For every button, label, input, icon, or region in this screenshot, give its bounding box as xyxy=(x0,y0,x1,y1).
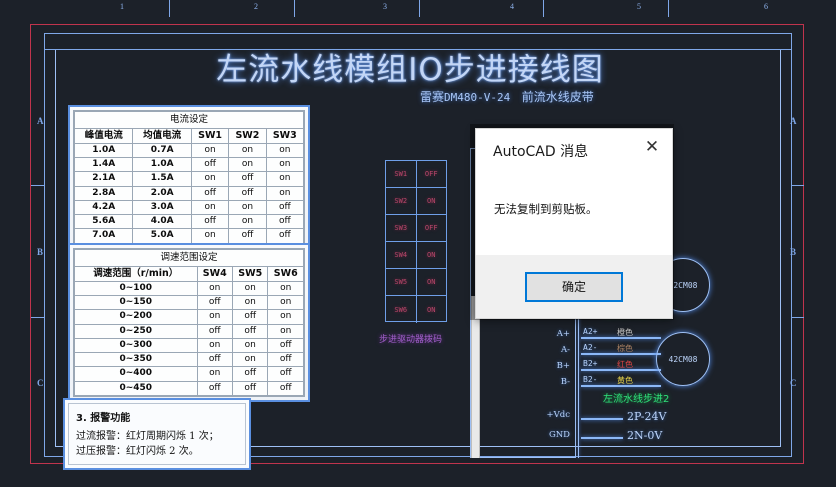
table-cell: off xyxy=(197,353,232,367)
table-cell: off xyxy=(229,172,266,186)
edge-letter-right-c: C xyxy=(790,378,797,388)
table-cell: on xyxy=(197,310,232,324)
dip-switch-row[interactable]: SW2ON xyxy=(386,188,446,215)
table-row: 7.0A5.0Aonoffoff xyxy=(75,229,304,243)
table-cell: off xyxy=(233,367,268,381)
dip-switch-state: ON xyxy=(417,188,447,214)
motor-2[interactable]: 42CM08 xyxy=(656,332,710,386)
table-cell: 0~350 xyxy=(75,353,198,367)
autocad-message-dialog[interactable]: AutoCAD 消息 ✕ 无法复制到剪贴板。 确定 xyxy=(475,128,673,319)
ruler-tick xyxy=(543,0,544,17)
edge-letter-left-c: C xyxy=(37,378,44,388)
table-cell: 4.2A xyxy=(75,200,133,214)
dip-switch-label: 步进驱动器拨码 xyxy=(379,332,442,345)
ruler-number: 4 xyxy=(510,2,514,11)
table-row: 0~450offoffoff xyxy=(75,381,304,395)
edge-letter-left-b: B xyxy=(37,247,43,257)
column-header: SW5 xyxy=(233,266,268,281)
ruler-number: 3 xyxy=(383,2,387,11)
table-cell: off xyxy=(266,215,303,229)
table-cell: 0~450 xyxy=(75,381,198,395)
wire-2n-0v xyxy=(581,437,623,439)
table-cell: 1.4A xyxy=(75,158,133,172)
table-cell: 2.1A xyxy=(75,172,133,186)
table-cell: off xyxy=(268,367,304,381)
wire-color-b2-minus: 黄色 xyxy=(617,375,633,386)
table-cell: on xyxy=(268,310,304,324)
column-header: 均值电流 xyxy=(133,128,191,143)
table-cell: off xyxy=(191,215,228,229)
alarm-note-line1: 过流报警：红灯周期闪烁 1 次； xyxy=(76,430,238,445)
ruler-tick xyxy=(668,0,669,17)
table-row: 0~250offoffon xyxy=(75,324,304,338)
table-cell: on xyxy=(191,172,228,186)
subtitle-desc: 前流水线皮带 xyxy=(522,90,594,104)
dip-switch-name: SW4 xyxy=(386,242,417,268)
wire-label-b2-minus: B2- xyxy=(583,375,597,384)
table-cell: on xyxy=(229,143,266,157)
table-cell: off xyxy=(229,186,266,200)
table-cell: on xyxy=(268,324,304,338)
column-header: SW4 xyxy=(197,266,232,281)
table-cell: on xyxy=(266,186,303,200)
dialog-footer: 确定 xyxy=(476,255,672,318)
motor-2-name: 42CM08 xyxy=(669,355,698,364)
column-header: SW1 xyxy=(191,128,228,143)
column-header: SW3 xyxy=(266,128,303,143)
table-caption-row: 调速范围设定 xyxy=(75,250,304,267)
table-row: 0~350offonoff xyxy=(75,353,304,367)
edge-divider xyxy=(792,185,804,186)
table-cell: on xyxy=(229,215,266,229)
dip-switch-name: SW5 xyxy=(386,269,417,295)
edge-divider xyxy=(792,317,804,318)
terminal-b-minus: B- xyxy=(561,377,570,387)
dip-switch-name: SW3 xyxy=(386,215,417,241)
table-cell: off xyxy=(191,158,228,172)
close-icon[interactable]: ✕ xyxy=(632,129,672,165)
terminal-a-plus: A+ xyxy=(557,329,570,339)
wire-2p-24v xyxy=(581,418,623,420)
ruler-number: 5 xyxy=(637,2,641,11)
wire-label-a2-minus: A2- xyxy=(583,343,597,352)
ok-button[interactable]: 确定 xyxy=(525,272,623,302)
dip-switch-name: SW6 xyxy=(386,296,417,323)
table-cell: off xyxy=(197,296,232,310)
table-cell: off xyxy=(229,229,266,243)
table-cell: 1.0A xyxy=(75,143,133,157)
ruler-number: 1 xyxy=(120,2,124,11)
drawing-subtitle: 雷赛DM480-V-24 前流水线皮带 xyxy=(420,88,594,105)
table-row: 2.1A1.5Aonoffon xyxy=(75,172,304,186)
table-cell: on xyxy=(233,296,268,310)
table-cell: on xyxy=(233,338,268,352)
subtitle-brand: 雷赛 xyxy=(420,90,444,104)
terminal-b-plus: B+ xyxy=(557,361,570,371)
current-setting-grid: 电流设定峰值电流均值电流SW1SW2SW31.0A0.7Aononon1.4A1… xyxy=(74,111,304,258)
table-caption-row: 电流设定 xyxy=(75,112,304,129)
table-cell: 5.6A xyxy=(75,215,133,229)
dialog-title: AutoCAD 消息 xyxy=(493,141,588,161)
table-cell: off xyxy=(191,186,228,200)
table-cell: off xyxy=(268,338,304,352)
terminal-gnd: GND xyxy=(549,430,570,440)
subtitle-model: DM480-V-24 xyxy=(444,91,510,104)
table-row: 0~300ononoff xyxy=(75,338,304,352)
table-cell: off xyxy=(266,200,303,214)
table-cell: off xyxy=(197,324,232,338)
column-header: 调速范围（r/min） xyxy=(75,266,198,281)
edge-letter-right-b: B xyxy=(790,247,796,257)
dip-switch-row[interactable]: SW1OFF xyxy=(386,161,446,188)
column-header: 峰值电流 xyxy=(75,128,133,143)
dip-switch-row[interactable]: SW4ON xyxy=(386,242,446,269)
table-cell: on xyxy=(229,158,266,172)
table-cell: on xyxy=(197,367,232,381)
table-row: 1.4A1.0Aoffonon xyxy=(75,158,304,172)
ruler-tick xyxy=(294,0,295,17)
power-label-2n0v: 2N-0V xyxy=(627,429,662,442)
power-label-2p24v: 2P-24V xyxy=(627,410,666,423)
table-header-row: 调速范围（r/min）SW4SW5SW6 xyxy=(75,266,304,281)
table-cell: on xyxy=(191,200,228,214)
table-cell: 0~300 xyxy=(75,338,198,352)
table-cell: on xyxy=(233,353,268,367)
speed-range-grid: 调速范围设定调速范围（r/min）SW4SW5SW60~100ononon0~1… xyxy=(74,249,304,396)
table-cell: off xyxy=(197,381,232,395)
table-row: 4.2A3.0Aononoff xyxy=(75,200,304,214)
table-cell: on xyxy=(229,200,266,214)
dip-switch-state: ON xyxy=(417,296,447,323)
dialog-body: 无法复制到剪贴板。 xyxy=(476,173,672,255)
edge-letter-left-a: A xyxy=(37,116,44,126)
table-cell: on xyxy=(268,281,304,295)
table-cell: 2.0A xyxy=(133,186,191,200)
table-cell: on xyxy=(191,143,228,157)
table-cell: off xyxy=(268,353,304,367)
ruler-tick xyxy=(419,0,420,17)
table-cell: off xyxy=(233,324,268,338)
edge-divider xyxy=(31,185,44,186)
alarm-note-line2: 过压报警：红灯闪烁 2 次。 xyxy=(76,445,238,460)
ruler-number: 2 xyxy=(254,2,258,11)
table-cell: on xyxy=(268,296,304,310)
wire-color-b2-plus: 红色 xyxy=(617,359,633,370)
column-header: SW2 xyxy=(229,128,266,143)
table-row: 0~150offonon xyxy=(75,296,304,310)
table-cell: off xyxy=(266,229,303,243)
dip-switch-name: SW1 xyxy=(386,161,417,187)
table-cell: off xyxy=(233,381,268,395)
dialog-message: 无法复制到剪贴板。 xyxy=(494,201,654,217)
dip-switch-row[interactable]: SW5ON xyxy=(386,269,446,296)
table-cell: 1.5A xyxy=(133,172,191,186)
table-cell: 0~400 xyxy=(75,367,198,381)
table-cell: on xyxy=(233,281,268,295)
ruler-tick xyxy=(169,0,170,17)
table-cell: 0.7A xyxy=(133,143,191,157)
table-cell: 1.0A xyxy=(133,158,191,172)
terminal-a-minus: A- xyxy=(561,345,570,355)
drawing-title: 左流水线模组IO步进接线图 xyxy=(180,44,640,89)
cad-application-window: 1 2 3 4 5 6 A B C A B C 左流水线模组IO步进接线图 雷赛… xyxy=(0,0,836,487)
table-cell: on xyxy=(197,281,232,295)
current-setting-table[interactable]: 电流设定峰值电流均值电流SW1SW2SW31.0A0.7Aononon1.4A1… xyxy=(68,105,310,264)
alarm-note-heading: 3. 报警功能 xyxy=(76,409,238,424)
wire-color-a2-minus: 棕色 xyxy=(617,343,633,354)
dip-switch-row[interactable]: SW6ON xyxy=(386,296,446,323)
table-cell: off xyxy=(233,310,268,324)
table-cell: 0~250 xyxy=(75,324,198,338)
dialog-titlebar: AutoCAD 消息 ✕ xyxy=(476,129,672,173)
table-cell: 4.0A xyxy=(133,215,191,229)
table-cell: 0~150 xyxy=(75,296,198,310)
table-caption: 调速范围设定 xyxy=(75,250,304,267)
dip-switch-row[interactable]: SW3OFF xyxy=(386,215,446,242)
table-row: 0~400onoffoff xyxy=(75,367,304,381)
table-row: 5.6A4.0Aoffonoff xyxy=(75,215,304,229)
dip-switch-state: OFF xyxy=(417,215,447,241)
edge-letter-right-a: A xyxy=(790,116,797,126)
table-cell: on xyxy=(191,229,228,243)
vertical-scrollbar-strip[interactable] xyxy=(471,296,480,458)
wire-color-a2-plus: 橙色 xyxy=(617,327,633,338)
table-row: 1.0A0.7Aononon xyxy=(75,143,304,157)
table-row: 2.8A2.0Aoffoffon xyxy=(75,186,304,200)
dip-switch-state: OFF xyxy=(417,161,447,187)
column-header: SW6 xyxy=(268,266,304,281)
table-cell: on xyxy=(197,338,232,352)
edge-divider xyxy=(31,317,44,318)
motor-2-label: 左流水线步进2 xyxy=(603,390,669,405)
ruler-number: 6 xyxy=(764,2,768,11)
table-cell: 5.0A xyxy=(133,229,191,243)
wire-label-b2-plus: B2+ xyxy=(583,359,597,368)
table-cell: 0~200 xyxy=(75,310,198,324)
table-caption: 电流设定 xyxy=(75,112,304,129)
wire-label-a2-plus: A2+ xyxy=(583,327,597,336)
terminal-vdc: +Vdc xyxy=(547,410,570,420)
table-header-row: 峰值电流均值电流SW1SW2SW3 xyxy=(75,128,304,143)
dip-switch-state: ON xyxy=(417,269,447,295)
table-cell: off xyxy=(268,381,304,395)
dip-switch-state: ON xyxy=(417,242,447,268)
dip-switch-name: SW2 xyxy=(386,188,417,214)
table-row: 0~100ononon xyxy=(75,281,304,295)
table-cell: 3.0A xyxy=(133,200,191,214)
alarm-note-box[interactable]: 3. 报警功能 过流报警：红灯周期闪烁 1 次； 过压报警：红灯闪烁 2 次。 xyxy=(63,398,251,470)
table-row: 0~200onoffon xyxy=(75,310,304,324)
table-cell: 7.0A xyxy=(75,229,133,243)
table-cell: on xyxy=(266,158,303,172)
table-cell: 0~100 xyxy=(75,281,198,295)
table-cell: 2.8A xyxy=(75,186,133,200)
speed-range-table[interactable]: 调速范围设定调速范围（r/min）SW4SW5SW60~100ononon0~1… xyxy=(68,243,310,402)
dip-switch-block[interactable]: SW1OFFSW2ONSW3OFFSW4ONSW5ONSW6ON xyxy=(385,160,447,322)
table-cell: on xyxy=(266,172,303,186)
table-cell: on xyxy=(266,143,303,157)
